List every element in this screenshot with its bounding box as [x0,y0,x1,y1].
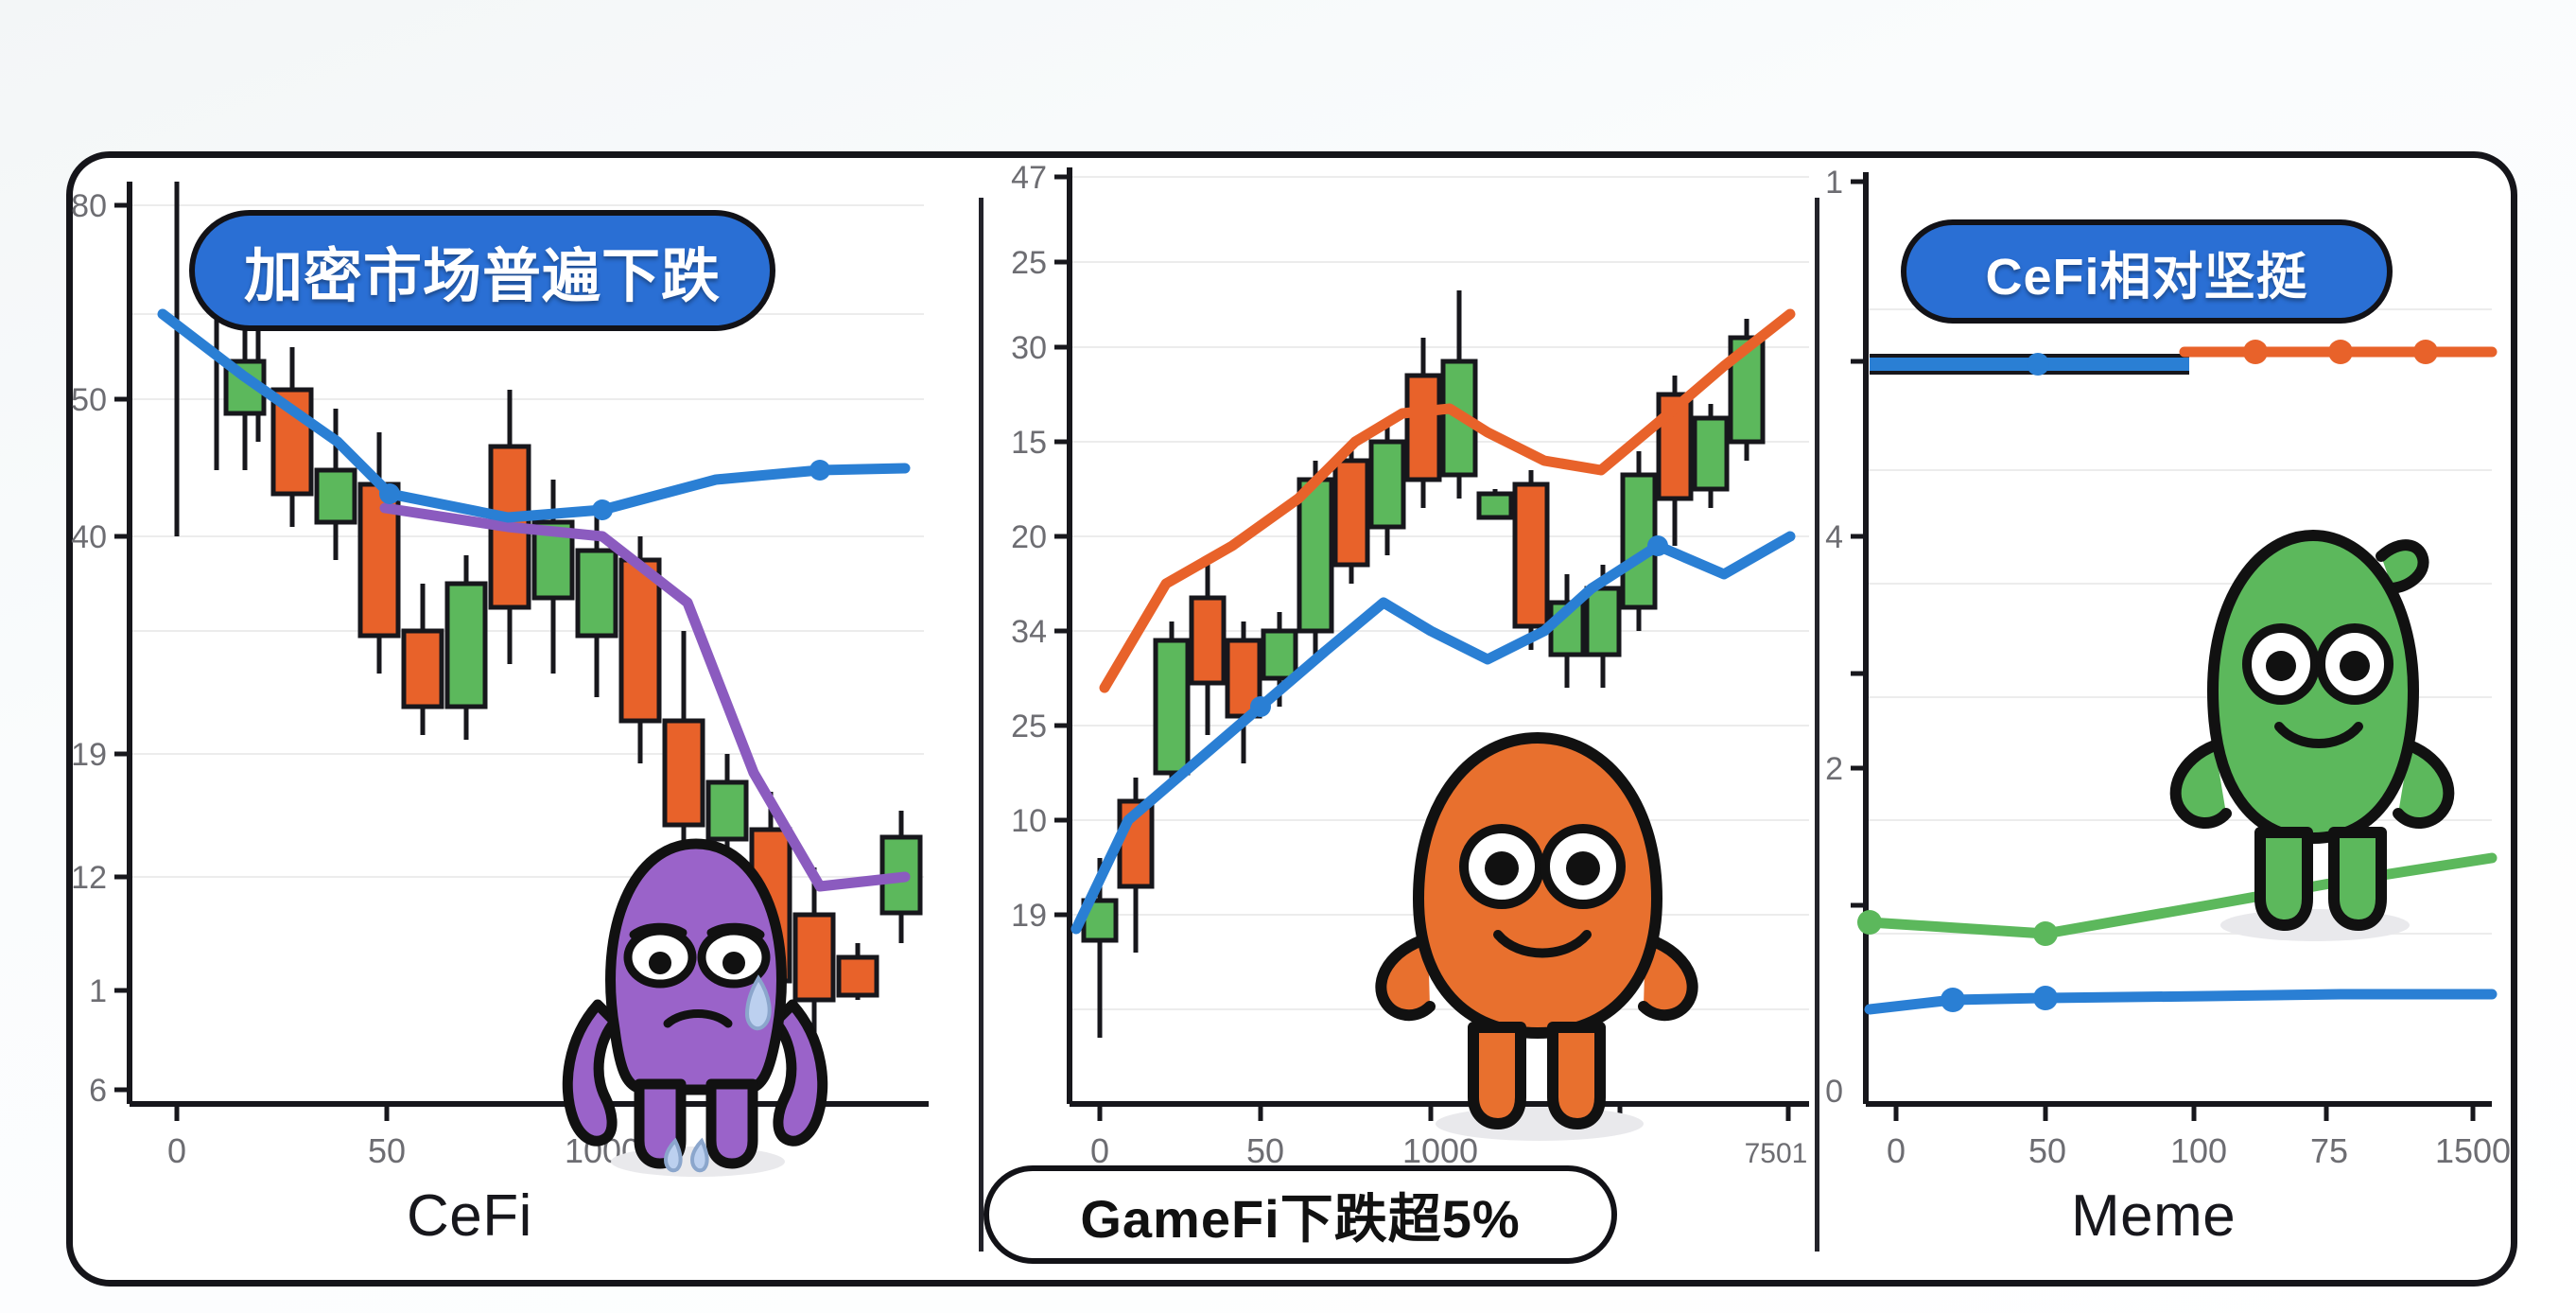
xtick-label: 100 [2170,1131,2227,1170]
ytick-label: 12 [71,860,107,896]
candle-down [1192,555,1224,735]
badge-crypto-market-down: 加密市场普遍下跌 [189,210,775,331]
panel-label-meme: Meme [2071,1182,2236,1250]
xtick-label: 50 [368,1131,406,1170]
ytick-label: 50 [71,382,107,418]
candle-up [1443,290,1475,499]
badge-cefi-resilient: CeFi相对坚挺 [1901,219,2393,324]
blue-ma-markers [379,460,830,520]
ytick-label: 19 [1011,898,1047,934]
panel-label-cefi: CeFi [407,1182,532,1250]
xtick-label: 1500 [2435,1131,2511,1170]
candle-down [1515,470,1547,650]
candle-up [1551,574,1583,688]
ytick-label: 80 [71,188,107,224]
xtick-label: 0 [1090,1131,1109,1170]
candle-down [273,347,311,527]
ytick-label: 6 [89,1073,107,1109]
panel-divider-1 [979,198,983,1252]
candle-down [1227,621,1260,763]
ytick-label: 1 [89,973,107,1009]
ytick-label: 4 [1825,519,1843,555]
ytick-label: 25 [1011,245,1047,281]
ytick-label: 47 [1011,160,1047,196]
candle-up [1695,404,1727,508]
candle-up [1156,621,1188,782]
ytick-label: 10 [1011,803,1047,839]
ytick-label: 2 [1825,751,1843,787]
ytick-label: 0 [1825,1074,1843,1110]
panel-divider-2 [1815,198,1819,1252]
candle-up [447,555,485,740]
ytick-label: 34 [1011,614,1047,650]
ytick-label: 30 [1011,330,1047,366]
happy-orange-monster-mascot [1362,700,1712,1145]
ytick-label: 19 [71,737,107,773]
badge-gamefi-drop: GameFi下跌超5% [983,1165,1617,1264]
ytick-label: 40 [71,519,107,555]
ytick-label: 15 [1011,425,1047,461]
sad-purple-monster-mascot [539,785,851,1182]
candle-down [404,584,442,735]
ytick-label: 20 [1011,519,1047,555]
happy-green-monster-mascot [2156,501,2468,946]
candle-down [1407,338,1439,508]
xtick-label: 0 [167,1131,186,1170]
screenshot-stage: 80 50 40 19 12 1 6 0 50 1 [0,0,2576,1313]
candle-up [1479,489,1511,517]
xtick-label: 7501 [1744,1138,1807,1169]
xtick-label: 0 [1887,1131,1906,1170]
xtick-label: 50 [2028,1131,2066,1170]
xtick-label: 75 [2310,1131,2348,1170]
blue-marker [2027,353,2049,376]
ytick-label: 1 [1825,165,1843,201]
xtick-label: 50 [1246,1131,1284,1170]
ytick-label: 25 [1011,709,1047,744]
